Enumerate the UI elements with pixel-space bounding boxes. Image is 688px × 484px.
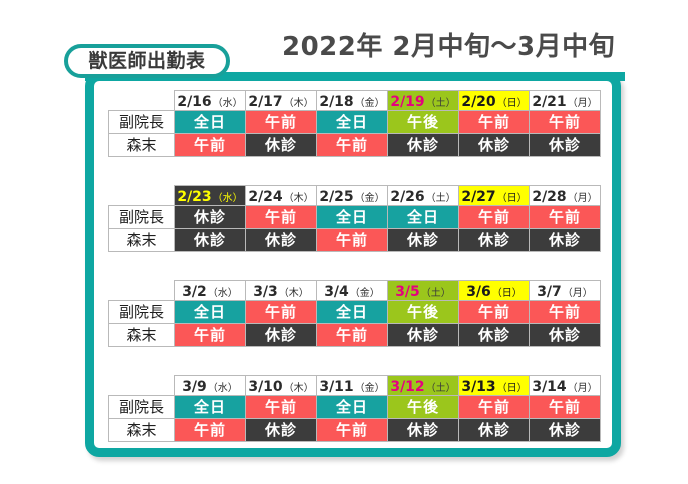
shift-cell: 午前: [246, 396, 317, 419]
shift-cell: 午前: [459, 396, 530, 419]
date-header-cell: 2/17（木）: [246, 91, 317, 111]
table-corner-cell: [109, 376, 175, 396]
date-number: 2/18: [319, 94, 353, 110]
shift-cell: 休診: [246, 324, 317, 347]
staff-row: 副院長全日午前全日午後午前午前: [109, 396, 601, 419]
date-number: 2/26: [390, 189, 424, 205]
shift-cell: 午後: [388, 301, 459, 324]
date-weekday: （木）: [284, 383, 314, 394]
shift-cell: 午前: [175, 134, 246, 157]
table-corner-cell: [109, 186, 175, 206]
date-weekday: （月）: [563, 288, 593, 299]
schedule-badge: 獣医師出勤表: [64, 44, 230, 78]
staff-name-cell: 森末: [109, 229, 175, 252]
date-header-cell: 3/4（金）: [317, 281, 388, 301]
shift-cell: 休診: [459, 419, 530, 442]
shift-cell: 休診: [459, 324, 530, 347]
shift-cell: 午前: [317, 229, 388, 252]
date-number: 2/19: [390, 94, 424, 110]
date-header-cell: 3/11（金）: [317, 376, 388, 396]
date-number: 3/5: [395, 284, 420, 300]
staff-row: 副院長全日午前全日午後午前午前: [109, 111, 601, 134]
date-weekday: （月）: [568, 98, 598, 109]
shift-cell: 休診: [530, 229, 601, 252]
date-header-cell: 3/14（月）: [530, 376, 601, 396]
date-number: 3/14: [532, 379, 566, 395]
shift-cell: 午前: [459, 206, 530, 229]
shift-cell: 休診: [246, 229, 317, 252]
date-header-cell: 2/28（月）: [530, 186, 601, 206]
date-header-cell: 3/12（土）: [388, 376, 459, 396]
week-table: 2/16（水）2/17（木）2/18（金）2/19（土）2/20（日）2/21（…: [108, 90, 601, 157]
shift-cell: 全日: [175, 396, 246, 419]
date-header-row: 3/2（水）3/3（木）3/4（金）3/5（土）3/6（日）3/7（月）: [109, 281, 601, 301]
week-block: 3/2（水）3/3（木）3/4（金）3/5（土）3/6（日）3/7（月）副院長全…: [108, 280, 604, 347]
date-number: 2/23: [177, 189, 211, 205]
shift-cell: 全日: [317, 301, 388, 324]
date-weekday: （金）: [355, 193, 385, 204]
date-weekday: （土）: [426, 98, 456, 109]
shift-cell: 午前: [246, 301, 317, 324]
shift-cell: 休診: [246, 419, 317, 442]
shift-cell: 休診: [388, 134, 459, 157]
week-table: 3/9（水）3/10（木）3/11（金）3/12（土）3/13（日）3/14（月…: [108, 375, 601, 442]
staff-name-cell: 副院長: [109, 301, 175, 324]
date-header-cell: 2/27（日）: [459, 186, 530, 206]
shift-cell: 休診: [388, 229, 459, 252]
date-header-cell: 2/24（木）: [246, 186, 317, 206]
week-block: 3/9（水）3/10（木）3/11（金）3/12（土）3/13（日）3/14（月…: [108, 375, 604, 442]
date-weekday: （水）: [208, 383, 238, 394]
date-header-cell: 2/16（水）: [175, 91, 246, 111]
shift-cell: 午前: [175, 419, 246, 442]
date-header-cell: 2/23（水）: [175, 186, 246, 206]
date-header-cell: 2/19（土）: [388, 91, 459, 111]
date-header-cell: 2/21（月）: [530, 91, 601, 111]
staff-row: 森末午前休診午前休診休診休診: [109, 419, 601, 442]
date-weekday: （日）: [497, 193, 527, 204]
shift-cell: 午前: [246, 206, 317, 229]
shift-cell: 休診: [388, 419, 459, 442]
shift-cell: 午前: [530, 111, 601, 134]
date-header-cell: 2/18（金）: [317, 91, 388, 111]
date-weekday: （水）: [213, 98, 243, 109]
schedule-weeks: 2/16（水）2/17（木）2/18（金）2/19（土）2/20（日）2/21（…: [108, 90, 604, 442]
date-weekday: （日）: [497, 98, 527, 109]
staff-row: 森末午前休診午前休診休診休診: [109, 134, 601, 157]
date-header-cell: 3/5（土）: [388, 281, 459, 301]
shift-cell: 全日: [317, 206, 388, 229]
staff-name-cell: 森末: [109, 419, 175, 442]
table-corner-cell: [109, 281, 175, 301]
shift-cell: 午後: [388, 396, 459, 419]
date-number: 3/2: [182, 284, 207, 300]
staff-name-cell: 副院長: [109, 111, 175, 134]
table-corner-cell: [109, 91, 175, 111]
shift-cell: 休診: [530, 134, 601, 157]
shift-cell: 午前: [246, 111, 317, 134]
date-number: 3/12: [390, 379, 424, 395]
date-header-row: 2/23（水）2/24（木）2/25（金）2/26（土）2/27（日）2/28（…: [109, 186, 601, 206]
date-number: 3/13: [461, 379, 495, 395]
date-number: 3/9: [182, 379, 207, 395]
shift-cell: 全日: [175, 301, 246, 324]
staff-row: 森末午前休診午前休診休診休診: [109, 324, 601, 347]
shift-cell: 全日: [317, 396, 388, 419]
date-number: 3/4: [324, 284, 349, 300]
date-weekday: （金）: [355, 383, 385, 394]
shift-cell: 午前: [317, 324, 388, 347]
date-weekday: （木）: [284, 193, 314, 204]
date-weekday: （土）: [426, 383, 456, 394]
page-title: 2022年 2月中旬〜3月中旬: [282, 26, 615, 63]
date-number: 3/6: [466, 284, 491, 300]
week-block: 2/16（水）2/17（木）2/18（金）2/19（土）2/20（日）2/21（…: [108, 90, 604, 157]
date-weekday: （金）: [350, 288, 380, 299]
staff-row: 森末休診休診午前休診休診休診: [109, 229, 601, 252]
shift-cell: 全日: [388, 206, 459, 229]
date-number: 2/21: [532, 94, 566, 110]
date-number: 3/10: [248, 379, 282, 395]
staff-name-cell: 森末: [109, 324, 175, 347]
shift-cell: 休診: [246, 134, 317, 157]
shift-cell: 休診: [388, 324, 459, 347]
shift-cell: 全日: [175, 111, 246, 134]
date-number: 3/3: [253, 284, 278, 300]
date-number: 3/7: [537, 284, 562, 300]
date-header-cell: 2/26（土）: [388, 186, 459, 206]
date-header-cell: 3/7（月）: [530, 281, 601, 301]
date-header-cell: 2/20（日）: [459, 91, 530, 111]
schedule-badge-label: 獣医師出勤表: [88, 52, 205, 71]
week-block: 2/23（水）2/24（木）2/25（金）2/26（土）2/27（日）2/28（…: [108, 185, 604, 252]
date-weekday: （月）: [568, 383, 598, 394]
date-number: 2/16: [177, 94, 211, 110]
shift-cell: 午前: [175, 324, 246, 347]
date-header-cell: 3/10（木）: [246, 376, 317, 396]
shift-cell: 休診: [459, 229, 530, 252]
date-header-cell: 3/13（日）: [459, 376, 530, 396]
week-table: 2/23（水）2/24（木）2/25（金）2/26（土）2/27（日）2/28（…: [108, 185, 601, 252]
date-number: 2/25: [319, 189, 353, 205]
date-number: 3/11: [319, 379, 353, 395]
date-number: 2/20: [461, 94, 495, 110]
date-header-row: 2/16（水）2/17（木）2/18（金）2/19（土）2/20（日）2/21（…: [109, 91, 601, 111]
shift-cell: 午後: [388, 111, 459, 134]
date-weekday: （木）: [284, 98, 314, 109]
date-number: 2/27: [461, 189, 495, 205]
date-header-cell: 2/25（金）: [317, 186, 388, 206]
date-weekday: （日）: [492, 288, 522, 299]
shift-cell: 午前: [459, 301, 530, 324]
shift-cell: 休診: [175, 206, 246, 229]
shift-cell: 休診: [175, 229, 246, 252]
date-weekday: （日）: [497, 383, 527, 394]
shift-cell: 午前: [317, 134, 388, 157]
date-weekday: （土）: [421, 288, 451, 299]
date-weekday: （金）: [355, 98, 385, 109]
date-header-cell: 3/3（木）: [246, 281, 317, 301]
date-weekday: （月）: [568, 193, 598, 204]
shift-cell: 午前: [530, 206, 601, 229]
date-weekday: （木）: [279, 288, 309, 299]
shift-cell: 休診: [459, 134, 530, 157]
shift-cell: 全日: [317, 111, 388, 134]
staff-name-cell: 副院長: [109, 206, 175, 229]
staff-name-cell: 副院長: [109, 396, 175, 419]
week-table: 3/2（水）3/3（木）3/4（金）3/5（土）3/6（日）3/7（月）副院長全…: [108, 280, 601, 347]
date-weekday: （土）: [426, 193, 456, 204]
shift-cell: 午前: [530, 301, 601, 324]
date-header-cell: 3/2（水）: [175, 281, 246, 301]
shift-cell: 午前: [530, 396, 601, 419]
staff-row: 副院長休診午前全日全日午前午前: [109, 206, 601, 229]
staff-name-cell: 森末: [109, 134, 175, 157]
shift-cell: 午前: [317, 419, 388, 442]
date-header-cell: 3/9（水）: [175, 376, 246, 396]
date-number: 2/24: [248, 189, 282, 205]
date-weekday: （水）: [208, 288, 238, 299]
date-header-cell: 3/6（日）: [459, 281, 530, 301]
shift-cell: 休診: [530, 324, 601, 347]
date-number: 2/17: [248, 94, 282, 110]
date-header-row: 3/9（水）3/10（木）3/11（金）3/12（土）3/13（日）3/14（月…: [109, 376, 601, 396]
date-weekday: （水）: [213, 193, 243, 204]
shift-cell: 休診: [530, 419, 601, 442]
staff-row: 副院長全日午前全日午後午前午前: [109, 301, 601, 324]
date-number: 2/28: [532, 189, 566, 205]
shift-cell: 午前: [459, 111, 530, 134]
